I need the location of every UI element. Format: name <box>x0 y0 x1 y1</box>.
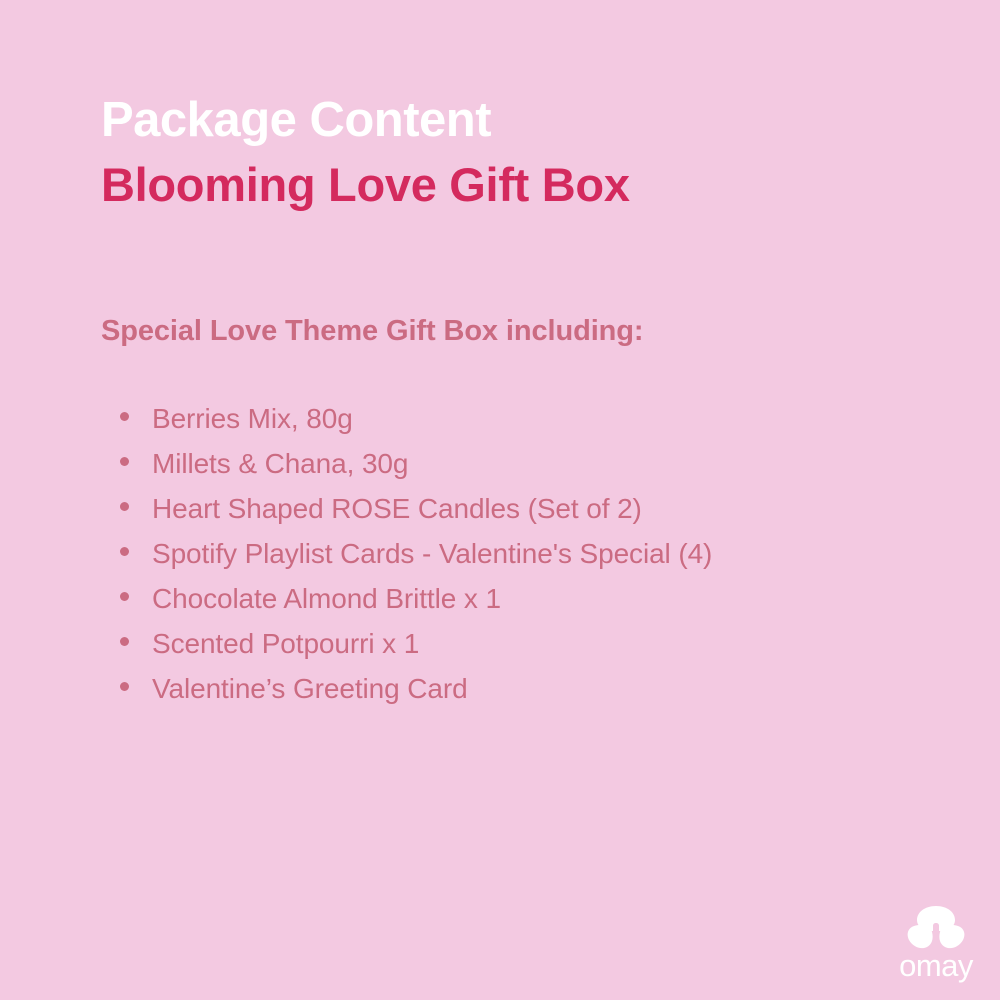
bullet-icon <box>120 457 129 466</box>
logo-wordmark: omay <box>893 951 979 983</box>
bullet-icon <box>120 412 129 421</box>
package-content-poster: Package Content Blooming Love Gift Box S… <box>0 0 1000 1000</box>
list-item: Spotify Playlist Cards - Valentine's Spe… <box>120 538 712 583</box>
list-item: Chocolate Almond Brittle x 1 <box>120 583 712 628</box>
list-item-label: Heart Shaped ROSE Candles (Set of 2) <box>152 493 642 525</box>
bullet-icon <box>120 592 129 601</box>
heading-block: Package Content Blooming Love Gift Box <box>101 96 901 208</box>
list-item: Millets & Chana, 30g <box>120 448 712 493</box>
bullet-icon <box>120 502 129 511</box>
three-petal-flower-icon <box>905 905 967 949</box>
list-item-label: Spotify Playlist Cards - Valentine's Spe… <box>152 538 712 570</box>
brand-logo: omay <box>893 905 979 983</box>
subtitle: Special Love Theme Gift Box including: <box>101 315 643 348</box>
page-kicker: Package Content <box>101 96 901 145</box>
list-item-label: Millets & Chana, 30g <box>152 448 408 480</box>
list-item-label: Chocolate Almond Brittle x 1 <box>152 583 501 615</box>
list-item-label: Berries Mix, 80g <box>152 403 353 435</box>
list-item: Berries Mix, 80g <box>120 403 712 448</box>
list-item-label: Valentine’s Greeting Card <box>152 673 468 705</box>
logo-wordmark-text: omay <box>899 951 974 983</box>
bullet-icon <box>120 547 129 556</box>
bullet-icon <box>120 682 129 691</box>
page-title: Blooming Love Gift Box <box>101 161 901 208</box>
list-item: Valentine’s Greeting Card <box>120 673 712 718</box>
list-item: Scented Potpourri x 1 <box>120 628 712 673</box>
bullet-icon <box>120 637 129 646</box>
list-item: Heart Shaped ROSE Candles (Set of 2) <box>120 493 712 538</box>
list-item-label: Scented Potpourri x 1 <box>152 628 419 660</box>
package-contents-list: Berries Mix, 80g Millets & Chana, 30g He… <box>120 403 712 718</box>
